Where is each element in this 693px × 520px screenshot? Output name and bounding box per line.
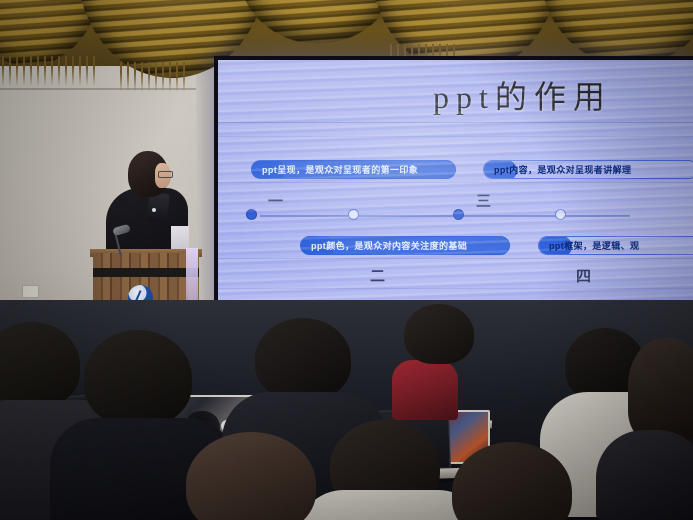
slide-item-4: ppt框架，是逻辑、观 (538, 236, 693, 255)
podium-band (93, 268, 199, 277)
slide-item-2: ppt内容，是观众对呈现者讲解理 (483, 160, 693, 179)
slide-number-3: 三 (476, 190, 491, 211)
audience-member-head (0, 322, 80, 408)
curtain-tassels (2, 56, 98, 86)
glasses-icon (158, 171, 173, 178)
slide-rule (218, 288, 693, 289)
timeline-dot-2 (348, 209, 359, 220)
slide-number-2: 二 (370, 265, 385, 286)
slide-rule (218, 258, 693, 259)
slide-timeline-axis (260, 215, 630, 217)
wall-outlet (22, 285, 39, 298)
timeline-dot-4 (555, 209, 566, 220)
slide-rule (218, 122, 693, 123)
audience-member-torso (392, 360, 458, 420)
slide-item-3: ppt颜色，是观众对内容关注度的基础 (300, 236, 510, 255)
audience-member-head (628, 338, 693, 442)
audience-member-torso (596, 430, 693, 520)
timeline-dot-1 (246, 209, 257, 220)
audience-foreground (0, 300, 693, 520)
projection-screen: ppt的作用 ppt呈现，是观众对呈现者的第一印象 ppt内容，是观众对呈现者讲… (218, 60, 693, 310)
slide-item-1-label: ppt呈现，是观众对呈现者的第一印象 (252, 163, 418, 176)
slide-item-4-label: ppt框架，是逻辑、观 (539, 239, 639, 252)
curtain-tassels (120, 62, 190, 92)
slide-number-4: 四 (576, 265, 591, 286)
slide-rule (218, 136, 693, 137)
slide-item-2-label: ppt内容，是观众对呈现者讲解理 (484, 163, 631, 176)
lecture-hall-photo: ppt的作用 ppt呈现，是观众对呈现者的第一印象 ppt内容，是观众对呈现者讲… (0, 0, 693, 520)
slide-item-1: ppt呈现，是观众对呈现者的第一印象 (251, 160, 456, 179)
audience-member-head (84, 330, 192, 426)
timeline-dot-3 (453, 209, 464, 220)
slide-number-1: 一 (268, 190, 283, 211)
audience-member-head (255, 318, 351, 400)
slide-title: ppt的作用 (433, 72, 612, 118)
presenter-pin (152, 208, 156, 212)
audience-member-head (404, 304, 474, 364)
slide-rule (218, 182, 693, 183)
slide-item-3-label: ppt颜色，是观众对内容关注度的基础 (301, 239, 467, 252)
